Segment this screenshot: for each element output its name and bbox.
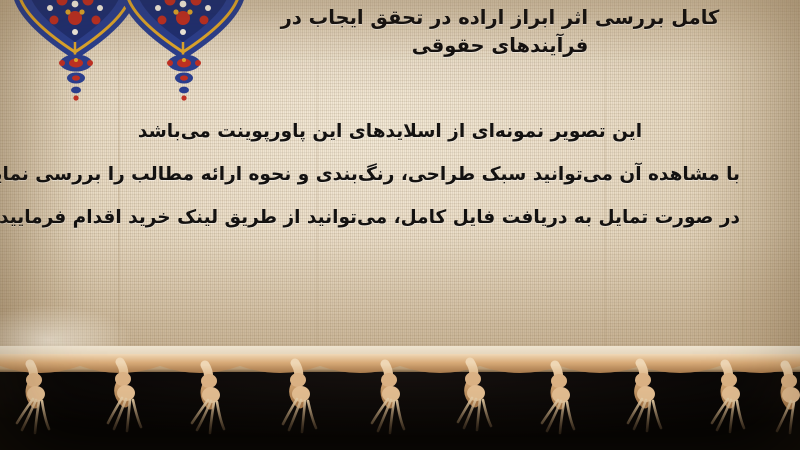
slide-body: این تصویر نمونه‌ای از اسلایدهای این پاور… — [40, 110, 740, 239]
slide-title: کامل بررسی اثر ابراز اراده در تحقق ایجاب… — [230, 4, 770, 59]
body-line-1: این تصویر نمونه‌ای از اسلایدهای این پاور… — [40, 110, 740, 153]
carpet-fringe — [0, 346, 800, 450]
slide-canvas: کامل بررسی اثر ابراز اراده در تحقق ایجاب… — [0, 0, 800, 450]
carpet-selvedge-edge — [0, 346, 800, 372]
body-line-2: با مشاهده آن می‌توانید سبک طراحی، رنگ‌بن… — [40, 153, 740, 196]
fringe-backdrop — [0, 364, 800, 450]
body-line-3: در صورت تمایل به دریافت فایل کامل، می‌تو… — [40, 196, 740, 239]
